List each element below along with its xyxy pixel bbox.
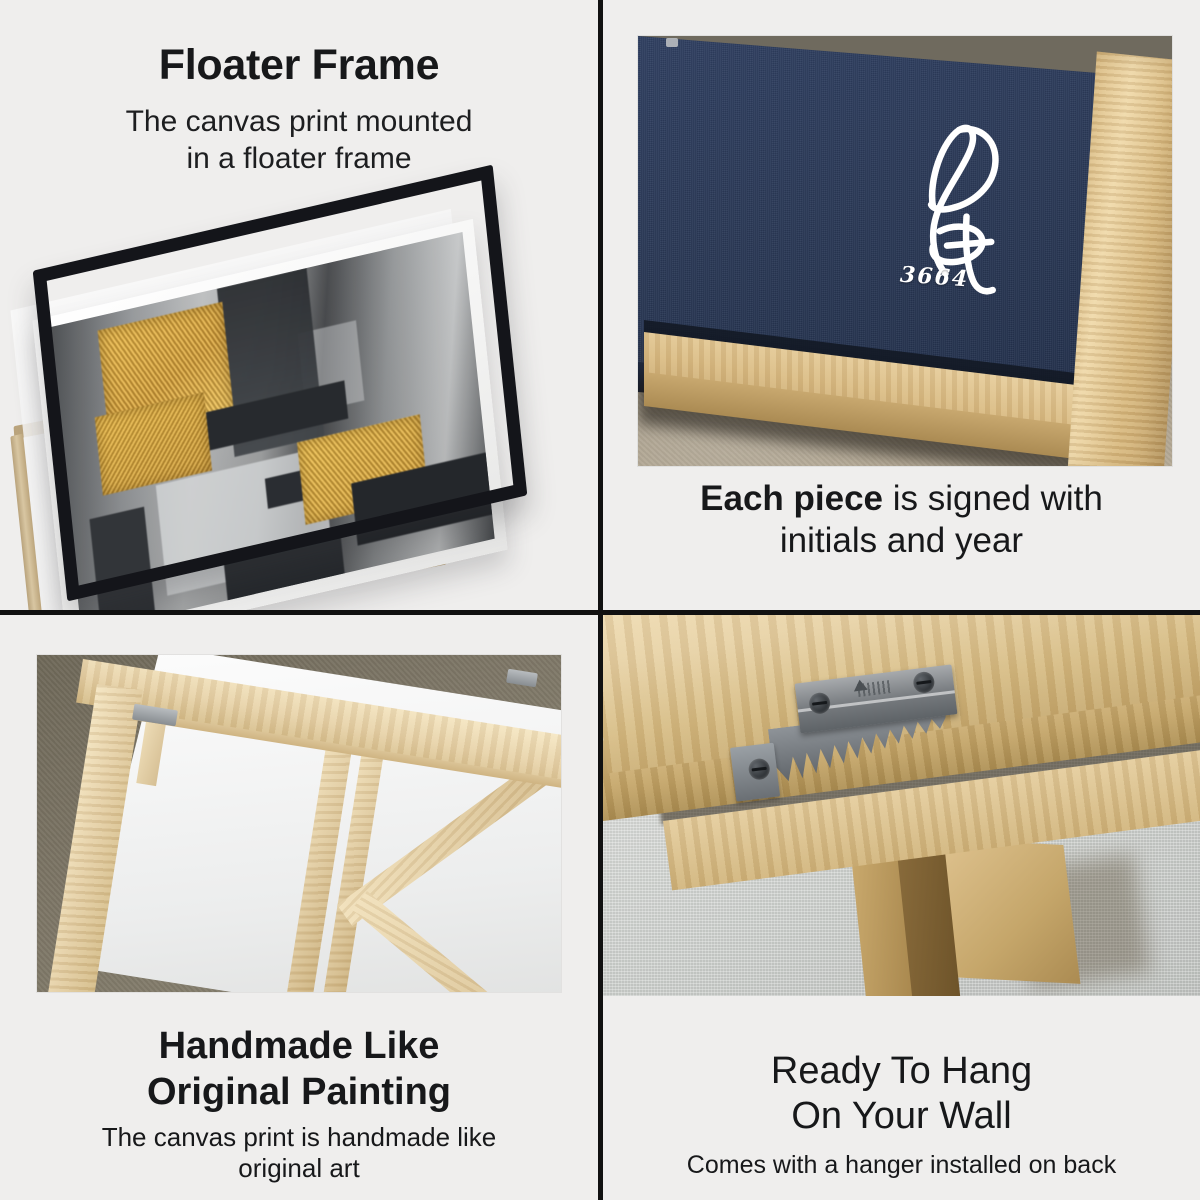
panel-ready-to-hang: Ready To Hang On Your Wall Comes with a …	[603, 615, 1200, 1200]
panel-subtitle-handmade: The canvas print is handmade like origin…	[18, 1122, 580, 1184]
panel-subtitle-floater-frame: The canvas print mounted in a floater fr…	[46, 104, 552, 177]
caption-rest: is signed with	[883, 479, 1103, 518]
caption-emphasis: Each piece	[700, 479, 883, 518]
panel-floater-frame: Floater Frame The canvas print mounted i…	[0, 0, 598, 610]
grid-divider-vertical	[598, 0, 603, 1200]
panel-title-line-2: Original Painting	[18, 1069, 580, 1115]
panel-title-line-1: Ready To Hang	[613, 1049, 1190, 1095]
panel-title-line-1: Handmade Like	[18, 1023, 580, 1069]
panel-subtitle-ready-to-hang: Comes with a hanger installed on back	[613, 1150, 1190, 1180]
exploded-floater-frame-illustration	[0, 196, 598, 610]
caption-line-2: initials and year	[780, 521, 1023, 560]
signed-navy-canvas-photo: 3664	[638, 36, 1172, 466]
panel-title-floater-frame: Floater Frame	[0, 0, 598, 88]
panel-caption-ready-to-hang: Ready To Hang On Your Wall Comes with a …	[603, 1049, 1200, 1180]
panel-handmade: Handmade Like Original Painting The canv…	[0, 615, 598, 1200]
feature-collage: Floater Frame The canvas print mounted i…	[0, 0, 1200, 1200]
stretcher-bar-back-photo	[37, 655, 561, 992]
panel-signed-piece: 3664 Each piece is signed with initials …	[603, 0, 1200, 610]
canvas-corner-hardware	[666, 38, 678, 47]
sawtooth-hanger-photo	[603, 615, 1200, 996]
panel-title-line-2: On Your Wall	[613, 1094, 1190, 1140]
subtitle-line-2: original art	[238, 1153, 359, 1183]
panel-caption-handmade: Handmade Like Original Painting The canv…	[0, 1023, 598, 1184]
signature-year: 3664	[899, 262, 970, 293]
grid-divider-horizontal	[0, 610, 1200, 615]
subtitle-line-2: in a floater frame	[186, 142, 411, 175]
panel-caption-signed-piece: Each piece is signed with initials and y…	[603, 478, 1200, 562]
subtitle-line-1: The canvas print is handmade like	[102, 1122, 497, 1152]
subtitle-line-1: The canvas print mounted	[126, 105, 473, 138]
